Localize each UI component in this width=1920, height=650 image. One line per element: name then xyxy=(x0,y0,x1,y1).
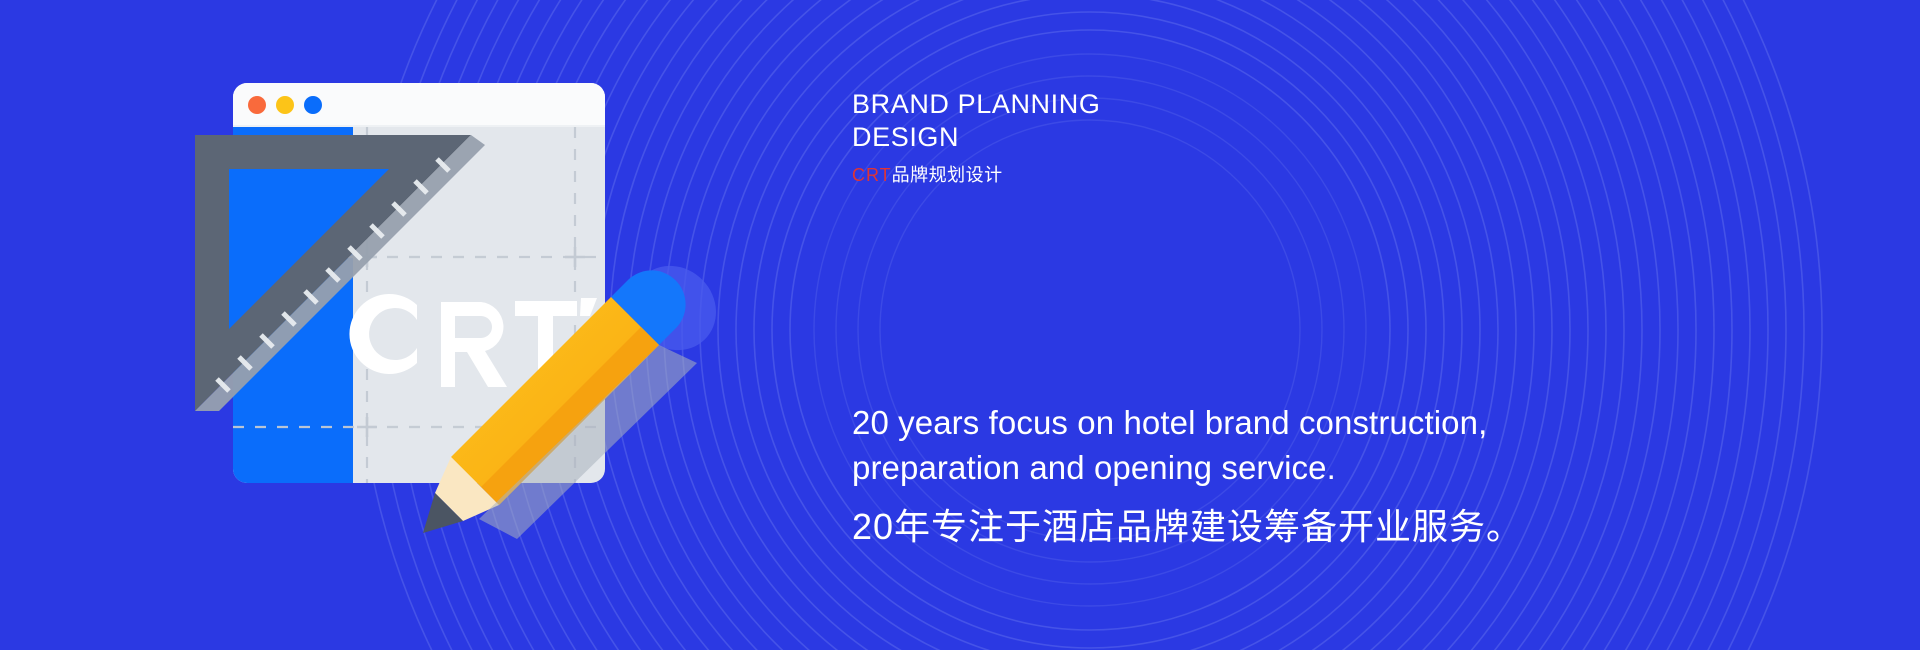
tagline-chinese: 20年专注于酒店品牌建设筹备开业服务。 xyxy=(852,504,1523,549)
maximize-dot-icon[interactable] xyxy=(304,96,322,114)
headline-subtitle-cn: 品牌规划设计 xyxy=(892,165,1003,185)
page-title: BRAND PLANNING DESIGN xyxy=(852,88,1100,154)
banner-text-column: BRAND PLANNING DESIGN CRT品牌规划设计 20 years… xyxy=(852,0,1912,650)
brand-abbreviation: CRT xyxy=(852,165,892,185)
close-dot-icon[interactable] xyxy=(248,96,266,114)
tagline-english: 20 years focus on hotel brand constructi… xyxy=(852,400,1523,490)
brand-design-illustration xyxy=(185,55,825,565)
brand-banner: BRAND PLANNING DESIGN CRT品牌规划设计 20 years… xyxy=(0,0,1920,650)
minimize-dot-icon[interactable] xyxy=(276,96,294,114)
headline-subtitle: CRT品牌规划设计 xyxy=(852,163,1100,187)
tagline-block: 20 years focus on hotel brand constructi… xyxy=(852,400,1523,549)
headline-block: BRAND PLANNING DESIGN CRT品牌规划设计 xyxy=(852,88,1100,187)
